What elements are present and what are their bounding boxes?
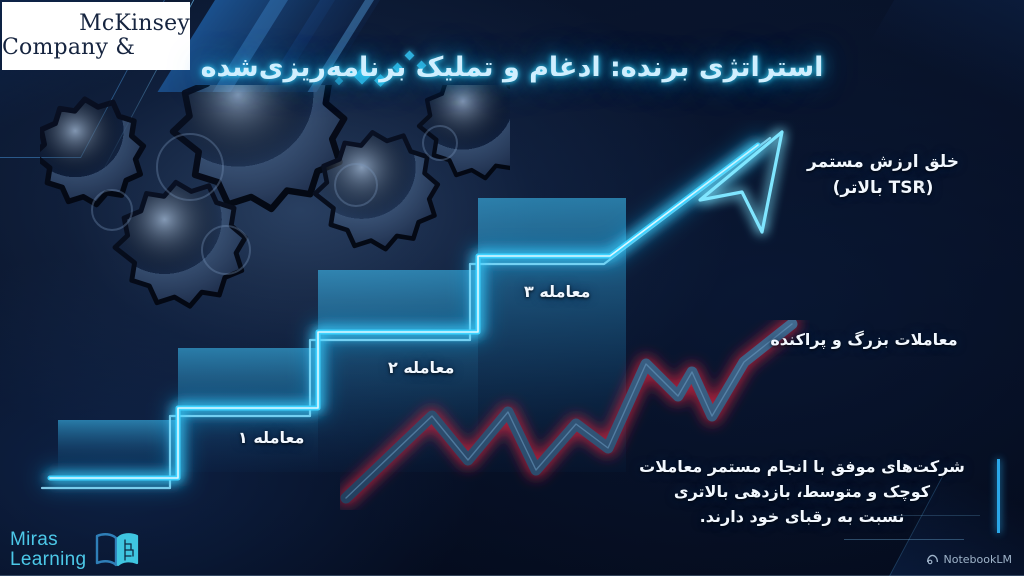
callout-tsr: خلق ارزش مستمر (TSR بالاتر) — [768, 150, 998, 201]
miras-learning-wordmark: Miras Learning — [10, 530, 86, 570]
step-label-deal-2: معامله ۲ — [388, 358, 454, 377]
miras-logo-line1: Miras — [10, 530, 86, 550]
notebooklm-label: NotebookLM — [944, 553, 1012, 566]
slide-canvas: McKinsey & Company استراتژی برنده: ادغام… — [0, 0, 1024, 576]
callout-tsr-line1: خلق ارزش مستمر — [768, 150, 998, 176]
page-title: استراتژی برنده: ادغام و تملیک برنامه‌ریز… — [0, 52, 1024, 83]
book-brain-icon — [94, 530, 140, 570]
bottom-right-hairline-1 — [844, 539, 964, 540]
miras-logo-line2: Learning — [10, 550, 86, 570]
notebooklm-icon — [926, 553, 939, 566]
summary-accent-bar — [997, 459, 1000, 533]
miras-learning-logo: Miras Learning — [10, 530, 140, 570]
callout-tsr-line2: (TSR بالاتر) — [768, 176, 998, 202]
step-label-deal-3: معامله ۳ — [524, 282, 590, 301]
step-label-deal-1: معامله ۱ — [238, 428, 304, 447]
callout-scattered-deals: معاملات بزرگ و پراکنده — [734, 330, 994, 349]
notebooklm-watermark: NotebookLM — [926, 553, 1012, 566]
callout-summary-line2: کوچک و متوسط، بازدهی بالاتری — [612, 480, 992, 505]
callout-summary-line1: شرکت‌های موفق با انجام مستمر معاملات — [612, 455, 992, 480]
mckinsey-logo-line1: McKinsey — [79, 12, 190, 36]
callout-summary-line3: نسبت به رقبای خود دارند. — [612, 505, 992, 530]
callout-summary: شرکت‌های موفق با انجام مستمر معاملات کوچ… — [612, 455, 998, 529]
